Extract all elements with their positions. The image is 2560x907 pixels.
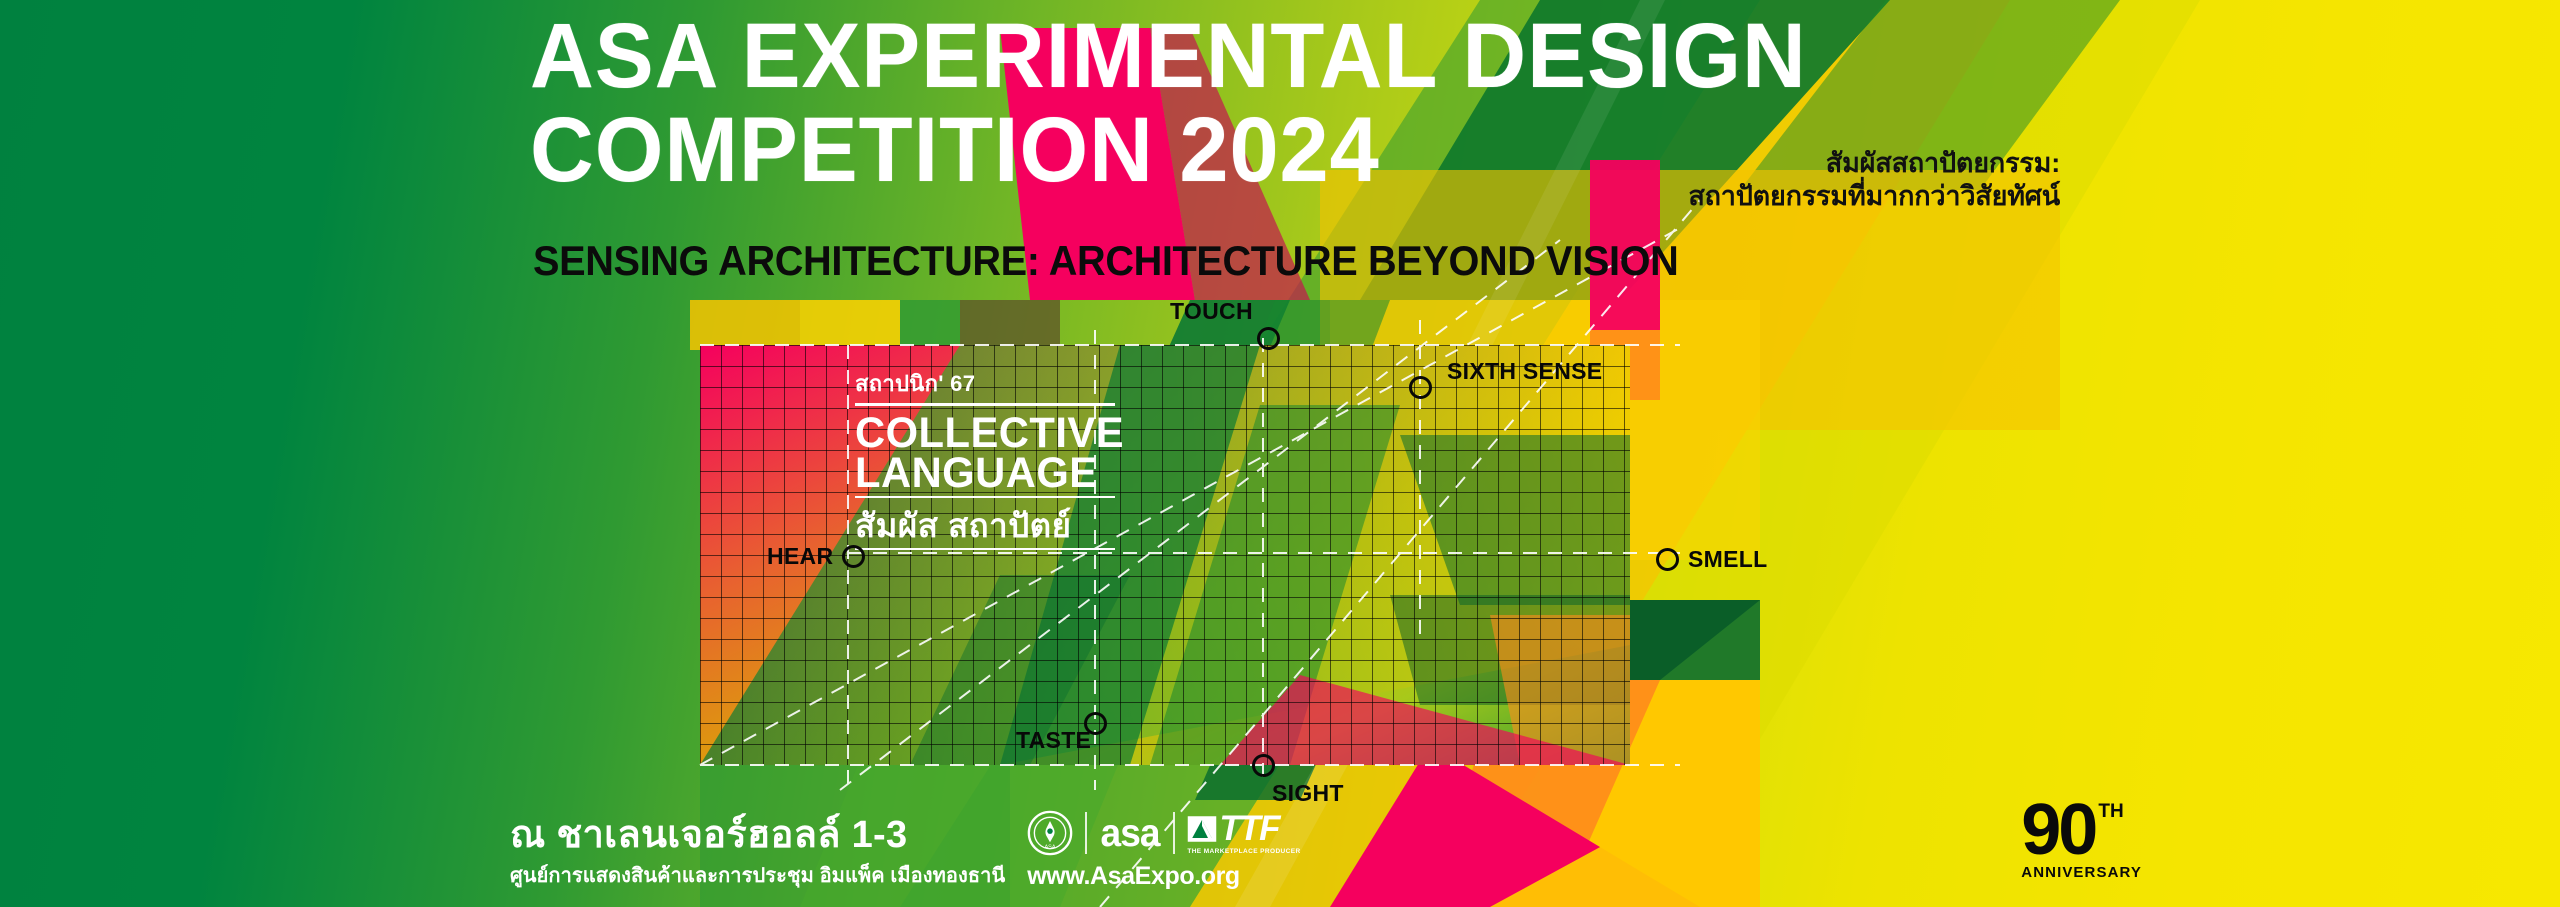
shape-amber-sliver-b [800, 300, 900, 350]
anniversary-number: 90 [2021, 801, 2095, 860]
ttf-row: TTF [1187, 811, 1279, 846]
english-subheading: SENSING ARCHITECTURE: ARCHITECTURE BEYON… [533, 237, 1678, 285]
shape-olive-sliver [960, 300, 1060, 350]
sense-marker-smell: SMELL [1656, 546, 1767, 573]
logo-divider-1 [1085, 812, 1087, 854]
sense-label-hear: HEAR [767, 543, 833, 570]
anniversary-ordinal: TH [2098, 804, 2123, 820]
sense-dot-touch[interactable] [1257, 327, 1280, 350]
divider-bottom [855, 548, 1115, 550]
sense-label-touch: TOUCH [1170, 298, 1253, 325]
sense-marker-touch: TOUCH [1170, 298, 1253, 325]
collective-language-block: สถาปนิก' 67 COLLECTIVE LANGUAGE สัมผัส ส… [855, 366, 1115, 557]
shape-green-sliver [900, 300, 960, 350]
thai-subtitle: สัมผัสสถาปัตยกรรม: สถาปัตยกรรมที่มากกว่า… [1600, 147, 2060, 213]
venue-name: ณ ชาเลนเจอร์ฮอลล์ 1-3 [510, 815, 1005, 856]
logo-group: ASA asa TTF THE MARKETPLACE PRODUCER [1027, 808, 1300, 891]
thai-subtitle-line-1: สัมผัสสถาปัตยกรรม: [1600, 147, 2060, 180]
sense-dot-hear[interactable] [842, 545, 865, 568]
logo-divider-2 [1173, 812, 1175, 854]
venue-info: ณ ชาเลนเจอร์ฮอลล์ 1-3 ศูนย์การแสดงสินค้า… [510, 815, 1005, 891]
venue-address: ศูนย์การแสดงสินค้าและการประชุม อิมแพ็ค เ… [510, 859, 1005, 891]
anniversary-number-row: 90 TH [2021, 801, 2142, 860]
website-url[interactable]: www.AsaExpo.org [1027, 862, 1240, 891]
anniversary-word: ANNIVERSARY [2021, 864, 2142, 881]
sense-marker-hear: HEAR [767, 543, 865, 570]
shape-amber-sliver-a [690, 300, 800, 350]
sense-marker-sixth-sense: SIXTH SENSE [1447, 358, 1602, 385]
sense-dot-smell[interactable] [1656, 548, 1679, 571]
sense-label-taste: TASTE [1016, 727, 1091, 754]
collective-language-line-1: COLLECTIVE [855, 413, 1107, 453]
footer-bar: ณ ชาเลนเจอร์ฮอลล์ 1-3 ศูนย์การแสดงสินค้า… [510, 808, 1301, 891]
sense-marker-sight: SIGHT [1272, 780, 1344, 807]
sense-dot-sixth-sense[interactable] [1409, 376, 1432, 399]
ttf-logo: TTF THE MARKETPLACE PRODUCER [1187, 811, 1300, 855]
asa-seal-icon: ASA [1027, 810, 1073, 856]
ttf-triangle-icon [1187, 814, 1217, 844]
sense-dot-sight[interactable] [1252, 754, 1275, 777]
thai-subtitle-line-2: สถาปัตยกรรมที่มากกว่าวิสัยทัศน์ [1600, 180, 2060, 213]
divider-top [855, 403, 1115, 406]
poster-canvas: ASA EXPERIMENTAL DESIGN COMPETITION 2024… [0, 0, 2560, 907]
headline-line-1: ASA EXPERIMENTAL DESIGN [530, 12, 2028, 101]
ttf-tagline: THE MARKETPLACE PRODUCER [1187, 848, 1300, 855]
sense-marker-taste: TASTE [1016, 727, 1091, 754]
asa-wordmark: asa [1101, 814, 1160, 853]
sense-dot-taste[interactable] [1084, 712, 1107, 735]
event-year-label: สถาปนิก' 67 [855, 366, 1115, 401]
sense-label-smell: SMELL [1688, 546, 1767, 573]
sense-label-sixth-sense: SIXTH SENSE [1447, 358, 1602, 385]
anniversary-badge: 90 TH ANNIVERSARY [2021, 801, 2142, 881]
logo-row: ASA asa TTF THE MARKETPLACE PRODUCER [1027, 808, 1300, 858]
sense-label-sight: SIGHT [1272, 780, 1344, 807]
ttf-wordmark: TTF [1219, 811, 1279, 846]
collective-language-thai: สัมผัส สถาปัตย์ [855, 505, 1115, 546]
svg-text:ASA: ASA [1045, 845, 1056, 851]
collective-language-line-2: LANGUAGE [855, 453, 1107, 493]
